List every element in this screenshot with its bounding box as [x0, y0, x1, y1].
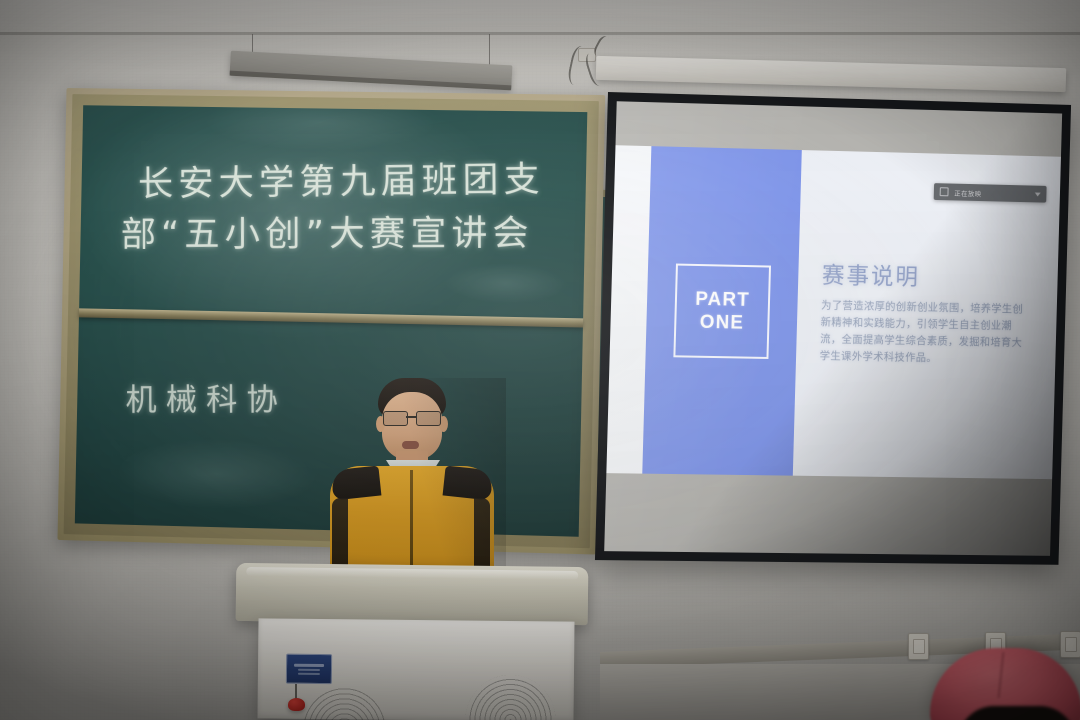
slide-body-text: 为了营造浓厚的创新创业氛围，培养学生创新精神和实践能力，引领学生自主创业潮流，全… — [819, 297, 1028, 368]
podium-cabinet — [257, 618, 574, 720]
podium-nameplate — [286, 654, 332, 684]
ceiling-band — [0, 0, 1080, 34]
podium-red-knob[interactable] — [288, 698, 305, 711]
presentation-slide: PART ONE 正在放映 赛事说明 为了营造浓厚的创新创业氛围，培养学生创新精… — [606, 145, 1061, 479]
jacket-shoulder-panel-left — [331, 466, 382, 501]
jacket-shoulder-panel-right — [443, 466, 494, 501]
slide-content-area: 正在放映 赛事说明 为了营造浓厚的创新创业氛围，培养学生创新精神和实践能力，引领… — [793, 150, 1061, 479]
presenter-mouth — [402, 441, 419, 449]
wall-outlet-3 — [1060, 631, 1080, 658]
part-label-line-2: ONE — [699, 311, 744, 333]
nameplate-line-2 — [298, 668, 320, 670]
speaker-grille-right — [465, 675, 556, 720]
glasses-lens-right — [416, 411, 441, 426]
glasses-bridge — [406, 416, 416, 418]
screen-letterbox-bottom — [604, 473, 1052, 556]
screen-surface: PART ONE 正在放映 赛事说明 为了营造浓厚的创新创业氛围，培养学生创新精… — [604, 101, 1062, 556]
presentation-toolbar[interactable]: 正在放映 — [934, 183, 1047, 203]
presenter — [316, 378, 506, 588]
presenter-face — [382, 392, 442, 460]
part-number-box: PART ONE — [673, 264, 771, 359]
glasses-lens-left — [383, 411, 408, 426]
chalk-text-line-3: 机械科协 — [125, 374, 287, 419]
part-label-line-1: PART — [695, 289, 750, 311]
slide-accent-panel: PART ONE — [642, 146, 802, 476]
projection-screen: PART ONE 正在放映 赛事说明 为了营造浓厚的创新创业氛围，培养学生创新精… — [595, 92, 1071, 565]
ceiling-edge-line — [0, 32, 1080, 35]
chalk-smudge-2 — [444, 262, 568, 305]
chevron-down-icon[interactable] — [1035, 192, 1041, 196]
classroom-photo-scene: 长安大学第九届班团支 部“五小创”大赛宣讲会 机械科协 PART ONE — [0, 0, 1080, 720]
chalk-smudge-1 — [203, 105, 438, 152]
chalk-smudge-3 — [115, 436, 318, 511]
podium-desktop — [236, 563, 589, 625]
nameplate-line-1 — [294, 663, 325, 666]
speaker-grille-left — [302, 687, 387, 720]
nameplate-line-3 — [298, 672, 320, 674]
play-icon[interactable] — [940, 187, 949, 196]
toolbar-status-label: 正在放映 — [954, 187, 981, 198]
wall-outlet-1 — [908, 633, 929, 660]
chalk-text-line-1: 长安大学第九届班团支 — [138, 151, 545, 207]
glasses-icon — [382, 411, 442, 424]
slide-heading: 赛事说明 — [822, 256, 921, 292]
chalk-text-line-2: 部“五小创”大赛宣讲会 — [121, 204, 534, 257]
